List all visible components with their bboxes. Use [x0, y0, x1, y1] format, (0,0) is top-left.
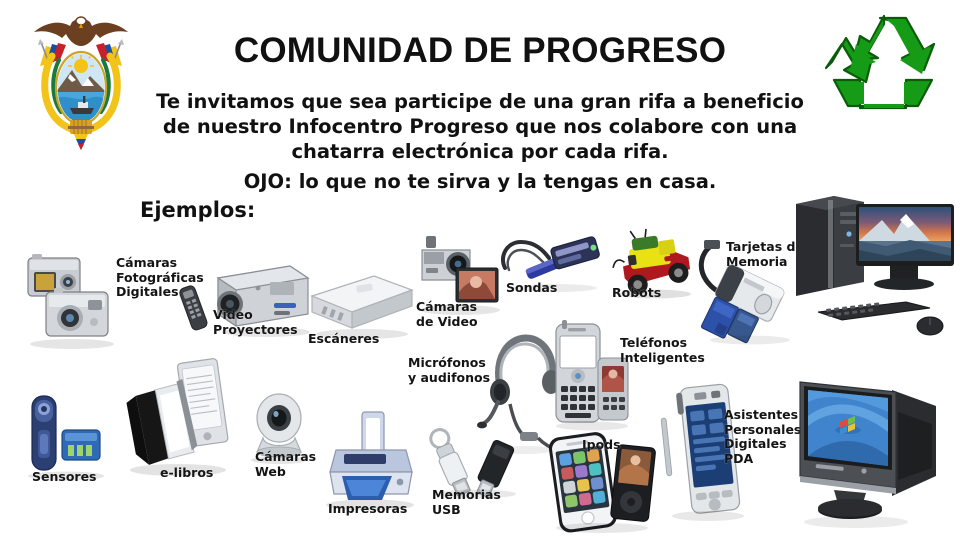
gallery-caption: Teléfonos Inteligentes [620, 336, 730, 365]
invitation-body-text: Te invitamos que sea participe de una gr… [150, 90, 810, 165]
page-title: COMUNIDAD DE PROGRESO [150, 33, 810, 70]
desktop-computer-icon [790, 190, 958, 350]
gallery-caption: Ipods [582, 438, 672, 453]
examples-label: Ejemplos: [140, 198, 255, 222]
gallery-caption: Robots [612, 286, 702, 301]
gallery-item-video-proyectores: Video Proyectores [178, 248, 318, 358]
gallery-item-memorias-usb: Memorias USB [420, 432, 550, 532]
scanner-icon [300, 262, 420, 342]
poster-canvas: COMUNIDAD DE PROGRESO Te invitamos que s… [0, 0, 960, 540]
gallery-item-camaras-fotograficas-digitales: Cámaras Fotográficas Digitales [20, 250, 150, 360]
gallery-item-sondas: Sondas [495, 232, 615, 312]
gallery-item-e-libros: e-libros [120, 368, 260, 498]
gallery-caption: Escáneres [308, 332, 418, 347]
gallery-item-computadora-escritorio [790, 190, 960, 355]
gallery-caption: Sensores [32, 470, 132, 485]
recycling-symbol-icon [820, 8, 948, 118]
gallery-item-sensores: Sensores [18, 392, 128, 512]
gallery-caption: Sondas [506, 281, 596, 296]
ecuador-coat-of-arms-icon [26, 8, 136, 156]
crt-monitor-icon [786, 372, 958, 532]
gallery-item-monitor-crt [786, 372, 960, 540]
gallery-caption: Memorias USB [432, 488, 532, 517]
notice-text: OJO: lo que no te sirva y la tengas en c… [150, 170, 810, 193]
printer-icon [320, 410, 430, 515]
gallery-caption: Micrófonos y audifonos [408, 356, 518, 385]
digital-camera-icon [20, 250, 130, 355]
